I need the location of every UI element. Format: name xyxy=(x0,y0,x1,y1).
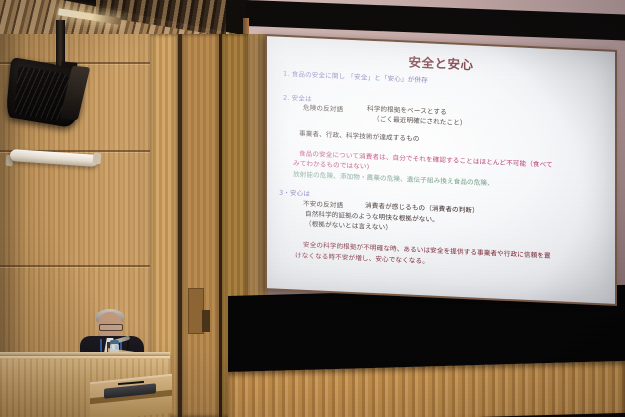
wall-vent xyxy=(202,310,210,332)
lecture-hall-photo: 安全と安心 1. 食品の安全に関し 「安全」と「安心」が併存 2. 安全は 危険… xyxy=(0,0,625,417)
roller-end-cap xyxy=(93,153,102,165)
projection-screen: 安全と安心 1. 食品の安全に関し 「安全」と「安心」が併存 2. 安全は 危険… xyxy=(267,36,615,304)
slide-line-10: 不安の反対語 xyxy=(303,200,343,211)
wall-seam xyxy=(0,265,175,267)
slide-line-1: 1. 食品の安全に関し 「安全」と「安心」が併存 xyxy=(283,70,428,85)
slide-line-5: 事業者、行政、科学技術が達成するもの xyxy=(299,130,420,144)
slide-line-8: 放射能の危険、添加物・農薬の危険、遺伝子組み換え食品の危険、 xyxy=(293,170,494,188)
slide-line-4: （ごく最近明確にされたこと） xyxy=(373,115,467,128)
slide-content: 安全と安心 1. 食品の安全に関し 「安全」と「安心」が併存 2. 安全は 危険… xyxy=(267,36,615,304)
slide-line-9: 3・安心は xyxy=(279,189,310,199)
wall-pilaster xyxy=(182,34,220,417)
wood-baseboard xyxy=(228,361,625,417)
glasses-icon xyxy=(99,324,123,331)
speaker-mount-pole xyxy=(56,20,65,65)
slide-line-2: 2. 安全は xyxy=(283,94,312,104)
slide-line-3: 危険の反対語 xyxy=(303,104,343,115)
